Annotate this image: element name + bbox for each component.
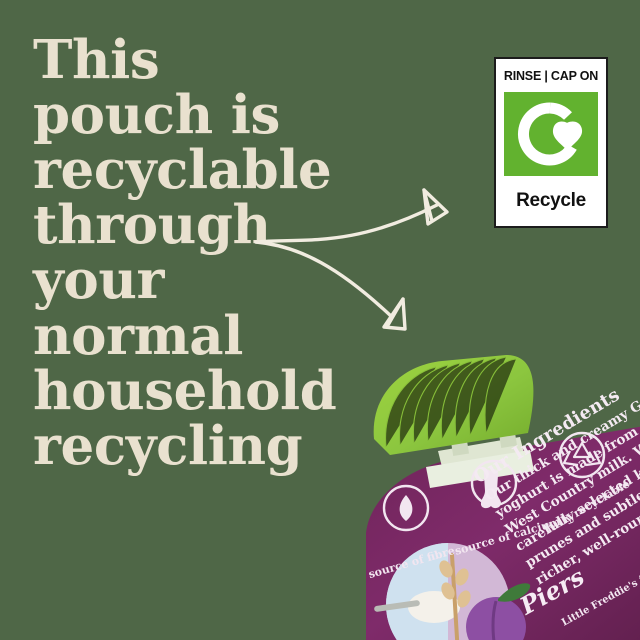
page-title: This pouch is recyclable through your no…	[33, 33, 363, 474]
recycle-label-badge: RINSE | CAP ON Recycle	[494, 57, 608, 228]
poster-canvas: This pouch is recyclable through your no…	[0, 0, 640, 640]
arrowhead-upper-crease	[424, 190, 432, 221]
recycle-label-top-text: RINSE | CAP ON	[496, 59, 606, 92]
headline-line-4: through	[33, 198, 363, 253]
headline-line-5: your	[33, 253, 363, 308]
headline-line-2: pouch is	[33, 88, 363, 143]
headline-line-7: household	[33, 364, 363, 419]
headline-line-6: normal	[33, 309, 363, 364]
arrowhead-lower-crease	[388, 299, 403, 325]
headline-line-8: recycling	[33, 419, 363, 474]
recycle-label-bottom-text: Recycle	[496, 176, 606, 226]
headline-line-1: This	[33, 33, 363, 88]
recycle-label-green-panel	[504, 92, 598, 176]
headline-line-3: recyclable	[33, 143, 363, 198]
arrowhead-upper	[424, 190, 447, 224]
arrowhead-lower	[384, 299, 405, 329]
recycle-loop-icon	[516, 101, 586, 167]
